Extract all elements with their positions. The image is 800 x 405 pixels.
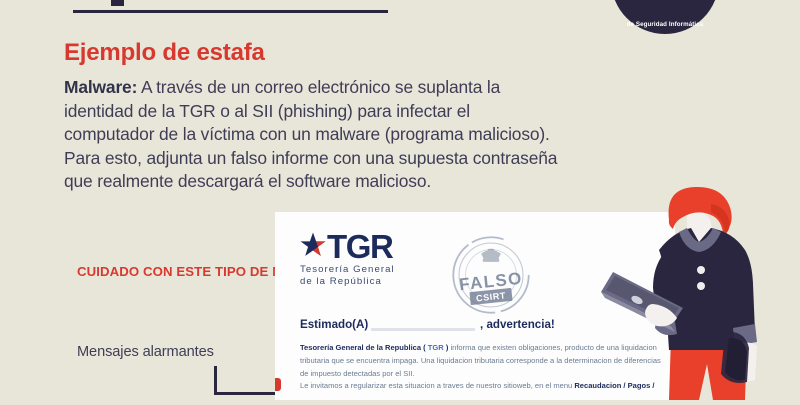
document-paragraph-tgr-tag: TGR xyxy=(428,343,444,352)
document-greeting-blank-field xyxy=(371,328,475,331)
document-paragraph-bold: Tesorería General de la Republica ( xyxy=(300,343,428,352)
person-with-laptop-illustration xyxy=(595,186,800,400)
falso-stamp-icon: FALSO CSIRT xyxy=(450,234,532,316)
body-paragraph: Malware: A través de un correo electróni… xyxy=(64,76,562,194)
cropped-text-glyph xyxy=(111,0,124,6)
horizontal-rule xyxy=(73,10,388,13)
document-cta-text: Le invitamos a regularizar esta situacio… xyxy=(300,381,574,390)
document-cta-marker xyxy=(275,378,281,391)
circle-badge-icon: de Seguridad Informática xyxy=(611,0,719,34)
document-greeting: Estimado(A) xyxy=(300,318,368,331)
badge-label: de Seguridad Informática xyxy=(627,22,704,29)
document-greeting-tail: , advertencia! xyxy=(480,318,555,331)
list-item: Mensajes alarmantes xyxy=(77,344,214,360)
tgr-wordmark: TGR xyxy=(327,233,392,261)
body-lead-label: Malware: xyxy=(64,77,137,97)
connector-line-vertical xyxy=(214,366,217,394)
page-title: Ejemplo de estafa xyxy=(64,39,265,67)
body-text: A través de un correo electrónico se sup… xyxy=(64,77,557,191)
star-icon xyxy=(300,232,326,258)
